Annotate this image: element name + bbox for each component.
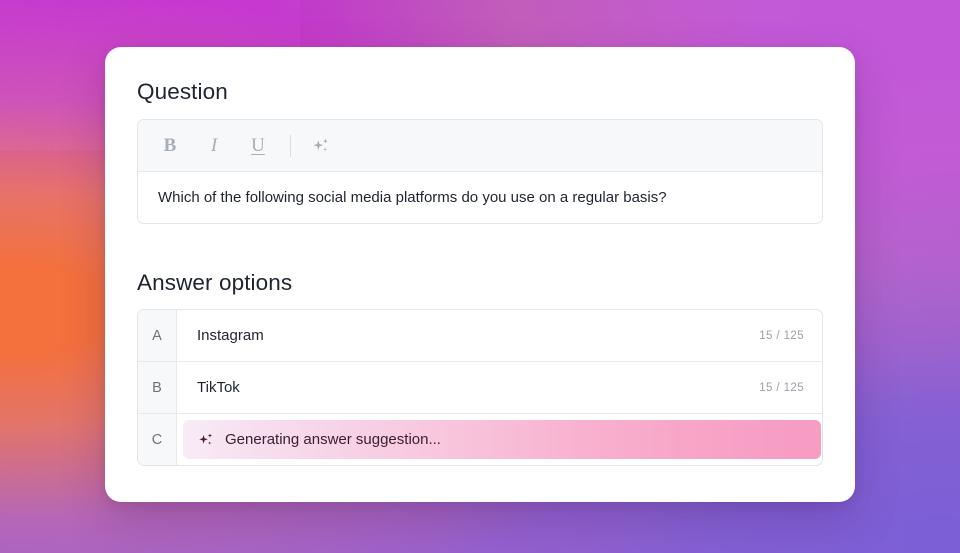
answer-options-table: A Instagram 15 / 125 B TikTok 15 / 125 C bbox=[137, 309, 823, 466]
option-input-value[interactable]: TikTok bbox=[197, 379, 747, 396]
character-counter: 15 / 125 bbox=[759, 330, 804, 342]
character-counter: 15 / 125 bbox=[759, 382, 804, 394]
table-row[interactable]: C Generating answer suggestion... bbox=[138, 414, 822, 465]
question-editor-card: Question B I U Which of the following so… bbox=[105, 47, 855, 502]
italic-button[interactable]: I bbox=[196, 129, 232, 163]
rich-text-toolbar: B I U bbox=[138, 120, 822, 172]
option-content: Generating answer suggestion... bbox=[177, 414, 822, 465]
option-letter: B bbox=[138, 362, 177, 413]
option-input-value[interactable]: Instagram bbox=[197, 327, 747, 344]
answer-options-heading: Answer options bbox=[137, 270, 292, 296]
generating-suggestion-bar: Generating answer suggestion... bbox=[183, 420, 821, 459]
toolbar-divider bbox=[290, 135, 291, 157]
sparkle-icon[interactable] bbox=[303, 129, 339, 163]
question-text-area[interactable]: Which of the following social media plat… bbox=[138, 172, 822, 223]
option-letter: C bbox=[138, 414, 177, 465]
underline-button[interactable]: U bbox=[240, 129, 276, 163]
generating-status-text: Generating answer suggestion... bbox=[225, 431, 441, 448]
question-text: Which of the following social media plat… bbox=[158, 187, 667, 209]
bold-button[interactable]: B bbox=[152, 129, 188, 163]
question-input-container: B I U Which of the following social medi… bbox=[137, 119, 823, 224]
table-row[interactable]: A Instagram 15 / 125 bbox=[138, 310, 822, 362]
option-content[interactable]: TikTok 15 / 125 bbox=[177, 362, 822, 413]
table-row[interactable]: B TikTok 15 / 125 bbox=[138, 362, 822, 414]
option-letter: A bbox=[138, 310, 177, 361]
option-content[interactable]: Instagram 15 / 125 bbox=[177, 310, 822, 361]
sparkle-icon bbox=[197, 431, 215, 449]
question-section-heading: Question bbox=[137, 79, 228, 105]
